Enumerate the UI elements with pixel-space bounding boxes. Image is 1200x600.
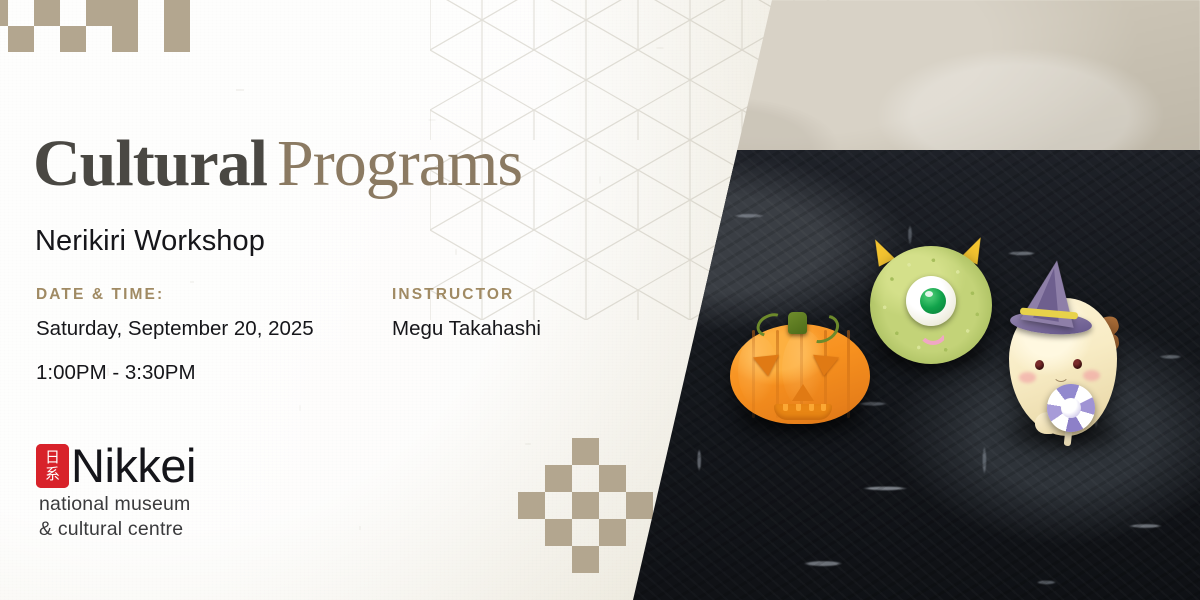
- pumpkin-stem: [788, 312, 807, 334]
- kanji-kei: 系: [45, 467, 60, 482]
- page-title: CulturalPrograms: [33, 131, 522, 197]
- monster-iris: [920, 288, 946, 314]
- logo-tagline: national museum & cultural centre: [39, 492, 196, 542]
- page-title-bold: Cultural: [33, 127, 267, 200]
- kanji-nichi: 日: [45, 450, 60, 465]
- pumpkin-wagashi: [726, 306, 874, 426]
- logo-tagline-line2: & cultural centre: [39, 517, 196, 542]
- witch-eye-right: [1073, 359, 1082, 369]
- pumpkin-mouth: [774, 404, 832, 420]
- monster-eye-glint: [925, 291, 933, 297]
- witch-eye-left: [1035, 360, 1044, 370]
- ichimatsu-checker-top-left: [0, 0, 222, 78]
- event-poster: CulturalPrograms Nerikiri Workshop DATE …: [0, 0, 1200, 600]
- lollipop: [1047, 384, 1095, 432]
- witch-cheek-left: [1019, 372, 1036, 383]
- monster-wagashi: [862, 236, 1000, 364]
- event-date: Saturday, September 20, 2025: [36, 314, 314, 344]
- date-time-block: DATE & TIME: Saturday, September 20, 202…: [36, 286, 314, 387]
- logo-wordmark: Nikkei: [71, 444, 196, 487]
- date-time-label: DATE & TIME:: [36, 286, 314, 304]
- witch-wagashi: [995, 262, 1135, 448]
- logo-tagline-line1: national museum: [39, 492, 196, 517]
- instructor-block: INSTRUCTOR Megu Takahashi: [392, 286, 541, 344]
- instructor-label: INSTRUCTOR: [392, 286, 541, 304]
- nikkei-kanji-seal-icon: 日 系: [36, 444, 69, 488]
- ichimatsu-diamond-ornament: [518, 438, 653, 573]
- event-subtitle: Nerikiri Workshop: [35, 225, 265, 258]
- witch-cheek-right: [1083, 370, 1100, 381]
- pumpkin-body: [730, 324, 870, 424]
- instructor-name: Megu Takahashi: [392, 314, 541, 344]
- logo-wordmark-row: 日 系 Nikkei: [36, 444, 196, 488]
- nikkei-logo[interactable]: 日 系 Nikkei national museum & cultural ce…: [36, 444, 196, 542]
- event-time: 1:00PM - 3:30PM: [36, 358, 314, 388]
- page-title-light: Programs: [277, 127, 522, 200]
